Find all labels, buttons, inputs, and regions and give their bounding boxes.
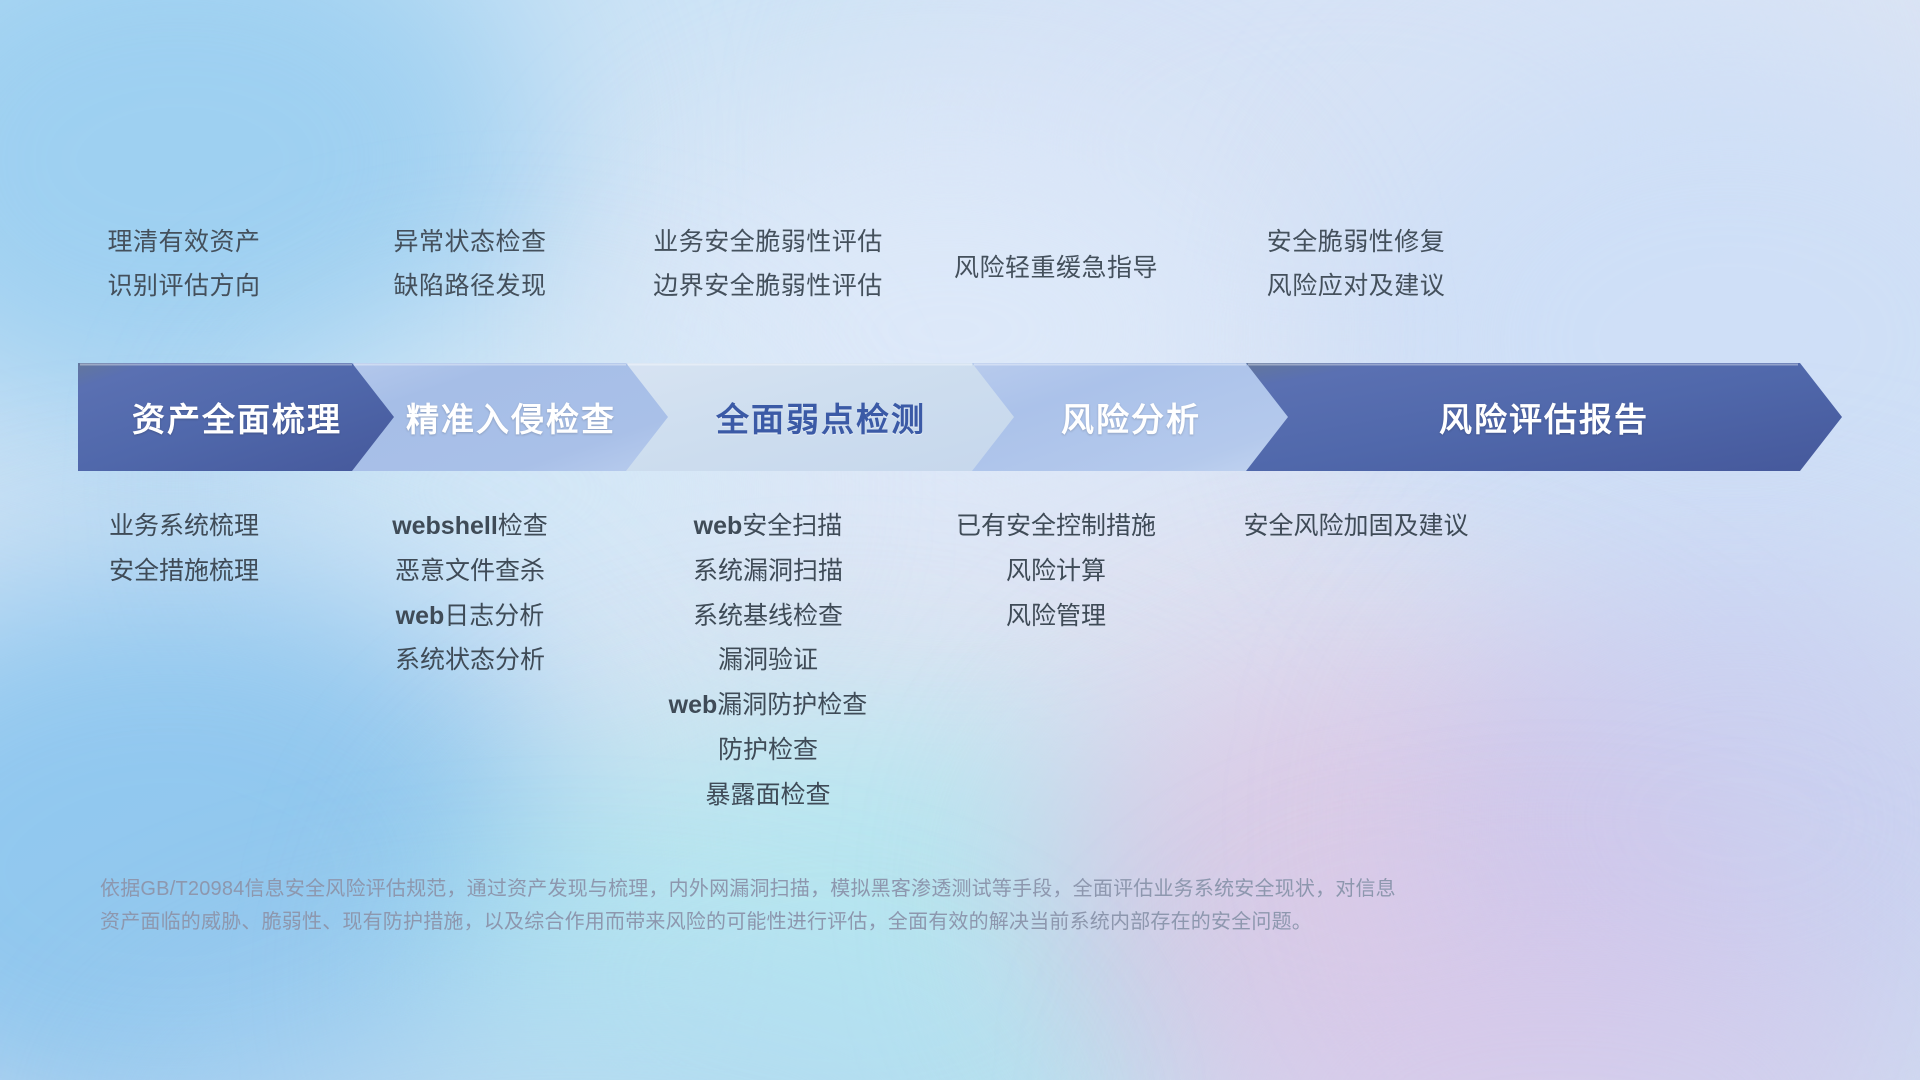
- detail-item: 风险计算: [1006, 557, 1106, 586]
- detail-item: 漏洞验证: [718, 646, 818, 675]
- footer-line-1: 依据GB/T20984信息安全风险评估规范，通过资产发现与梳理，内外网漏洞扫描，…: [100, 873, 1840, 906]
- process-step-weakness-detection[interactable]: 全面弱点检测: [626, 363, 1016, 471]
- process-step-intrusion-check[interactable]: 精准入侵检查: [352, 363, 670, 471]
- top-annotation-item: 业务安全脆弱性评估: [653, 228, 883, 257]
- footer-line-2: 资产面临的威胁、脆弱性、现有防护措施，以及综合作用而带来风险的可能性进行评估，全…: [100, 906, 1840, 939]
- process-step-title: 风险评估报告: [1439, 393, 1649, 441]
- process-step-title: 风险分析: [1061, 393, 1201, 441]
- top-annotation-item: 安全脆弱性修复: [1267, 228, 1446, 257]
- slide-canvas: 理清有效资产识别评估方向异常状态检查缺陷路径发现业务安全脆弱性评估边界安全脆弱性…: [0, 0, 1920, 1080]
- process-step-risk-report[interactable]: 风险评估报告: [1246, 363, 1842, 471]
- detail-item: web漏洞防护检查: [669, 691, 868, 720]
- process-step-title: 精准入侵检查: [406, 393, 616, 441]
- top-annotation-column-risk-report: 安全脆弱性修复风险应对及建议: [1106, 228, 1606, 301]
- detail-item: 风险管理: [1006, 602, 1106, 631]
- detail-column-risk-report: 安全风险加固及建议: [1106, 512, 1606, 541]
- detail-item: 安全风险加固及建议: [1243, 512, 1468, 541]
- process-chevron-band: 资产全面梳理精准入侵检查全面弱点检测风险分析风险评估报告: [0, 363, 1920, 471]
- detail-item: 暴露面检查: [705, 781, 830, 810]
- top-annotation-item: 风险应对及建议: [1267, 272, 1446, 301]
- process-step-risk-analysis[interactable]: 风险分析: [972, 363, 1290, 471]
- footer-description: 依据GB/T20984信息安全风险评估规范，通过资产发现与梳理，内外网漏洞扫描，…: [100, 873, 1840, 939]
- process-step-title: 资产全面梳理: [132, 393, 342, 441]
- detail-item: 防护检查: [718, 736, 818, 765]
- process-step-asset-inventory[interactable]: 资产全面梳理: [78, 363, 396, 471]
- process-step-title: 全面弱点检测: [716, 393, 926, 441]
